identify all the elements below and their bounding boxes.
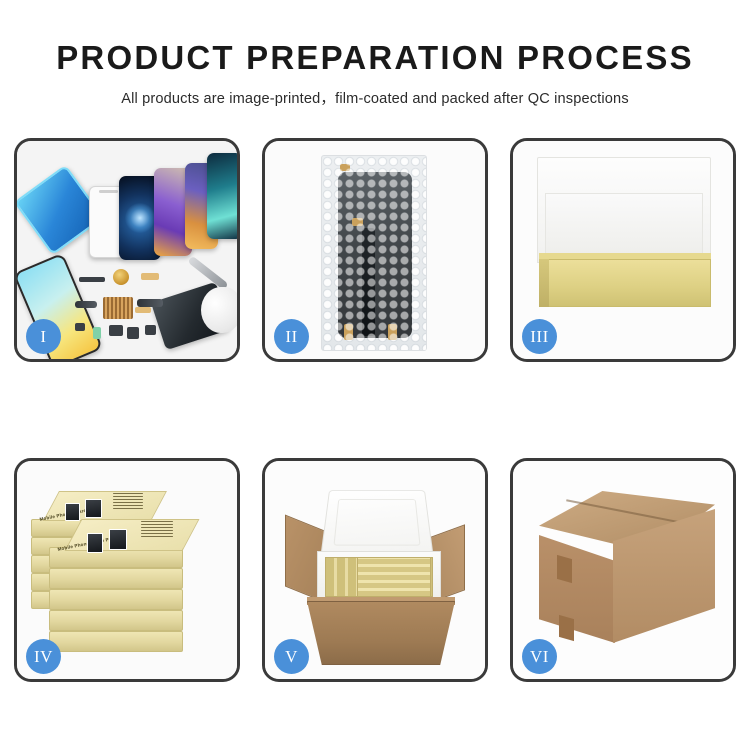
bubble-texture-overlay [322, 156, 426, 350]
product-preparation-page: PRODUCT PREPARATION PROCESS All products… [0, 0, 750, 750]
process-step-panel-2: II [262, 138, 488, 362]
page-title: PRODUCT PREPARATION PROCESS [0, 40, 750, 76]
box-spec-lines-rear [113, 493, 143, 511]
flex-cable-part-a [75, 301, 97, 308]
box-phone-graphic-front-2 [109, 529, 127, 550]
box-left-side-panel [539, 259, 549, 307]
step-badge-5: V [274, 639, 309, 674]
process-steps-grid: I II [14, 138, 736, 682]
speaker-module-part [113, 269, 129, 285]
process-step-panel-4: Mobile Phone Spare Parts Mobile Phone Sp… [14, 458, 240, 682]
page-header: PRODUCT PREPARATION PROCESS All products… [0, 0, 750, 108]
antenna-part [145, 325, 156, 335]
button-bracket-part [127, 327, 139, 339]
screw-tray-part [103, 297, 133, 319]
process-step-panel-5: V [262, 458, 488, 682]
box-phone-graphic-rear-1 [65, 503, 80, 521]
foam-box-lid [320, 490, 434, 557]
camera-lens-part [93, 327, 101, 339]
sim-tray-part [135, 307, 151, 313]
carton-left-face [539, 535, 615, 643]
step-badge-2: II [274, 319, 309, 354]
carton-tape-upper [557, 555, 572, 583]
stacked-box-front-2 [49, 568, 183, 589]
stacked-box-front-5 [49, 631, 183, 652]
page-subtitle: All products are image-printed，film-coat… [0, 87, 750, 108]
step-badge-1: I [26, 319, 61, 354]
technician-hand [201, 287, 240, 333]
process-step-panel-1: I [14, 138, 240, 362]
step-badge-4: IV [26, 639, 61, 674]
adhesive-tape-part [141, 273, 159, 280]
process-step-panel-6: VI [510, 458, 736, 682]
carton-body [307, 601, 455, 665]
stacked-box-front-4 [49, 610, 183, 631]
foam-sheet-insert [545, 193, 703, 261]
step-badge-6: VI [522, 639, 557, 674]
process-step-panel-3: III [510, 138, 736, 362]
box-phone-graphic-front-1 [87, 533, 103, 553]
earpiece-part [109, 325, 123, 336]
box-spec-lines-front [141, 521, 173, 539]
box-phone-graphic-rear-2 [85, 499, 102, 518]
bubble-wrap-bag [321, 155, 427, 351]
kraft-boxes-row-right [357, 557, 431, 597]
phone-teal-gradient [207, 153, 240, 239]
stacked-box-front-3 [49, 589, 183, 610]
step-badge-3: III [522, 319, 557, 354]
flex-cable-part-b [137, 299, 163, 307]
carton-tape-lower [559, 615, 574, 641]
box-yellow-front-panel [539, 259, 711, 307]
screw-set-part [75, 323, 85, 331]
vibration-motor-part [79, 277, 105, 282]
